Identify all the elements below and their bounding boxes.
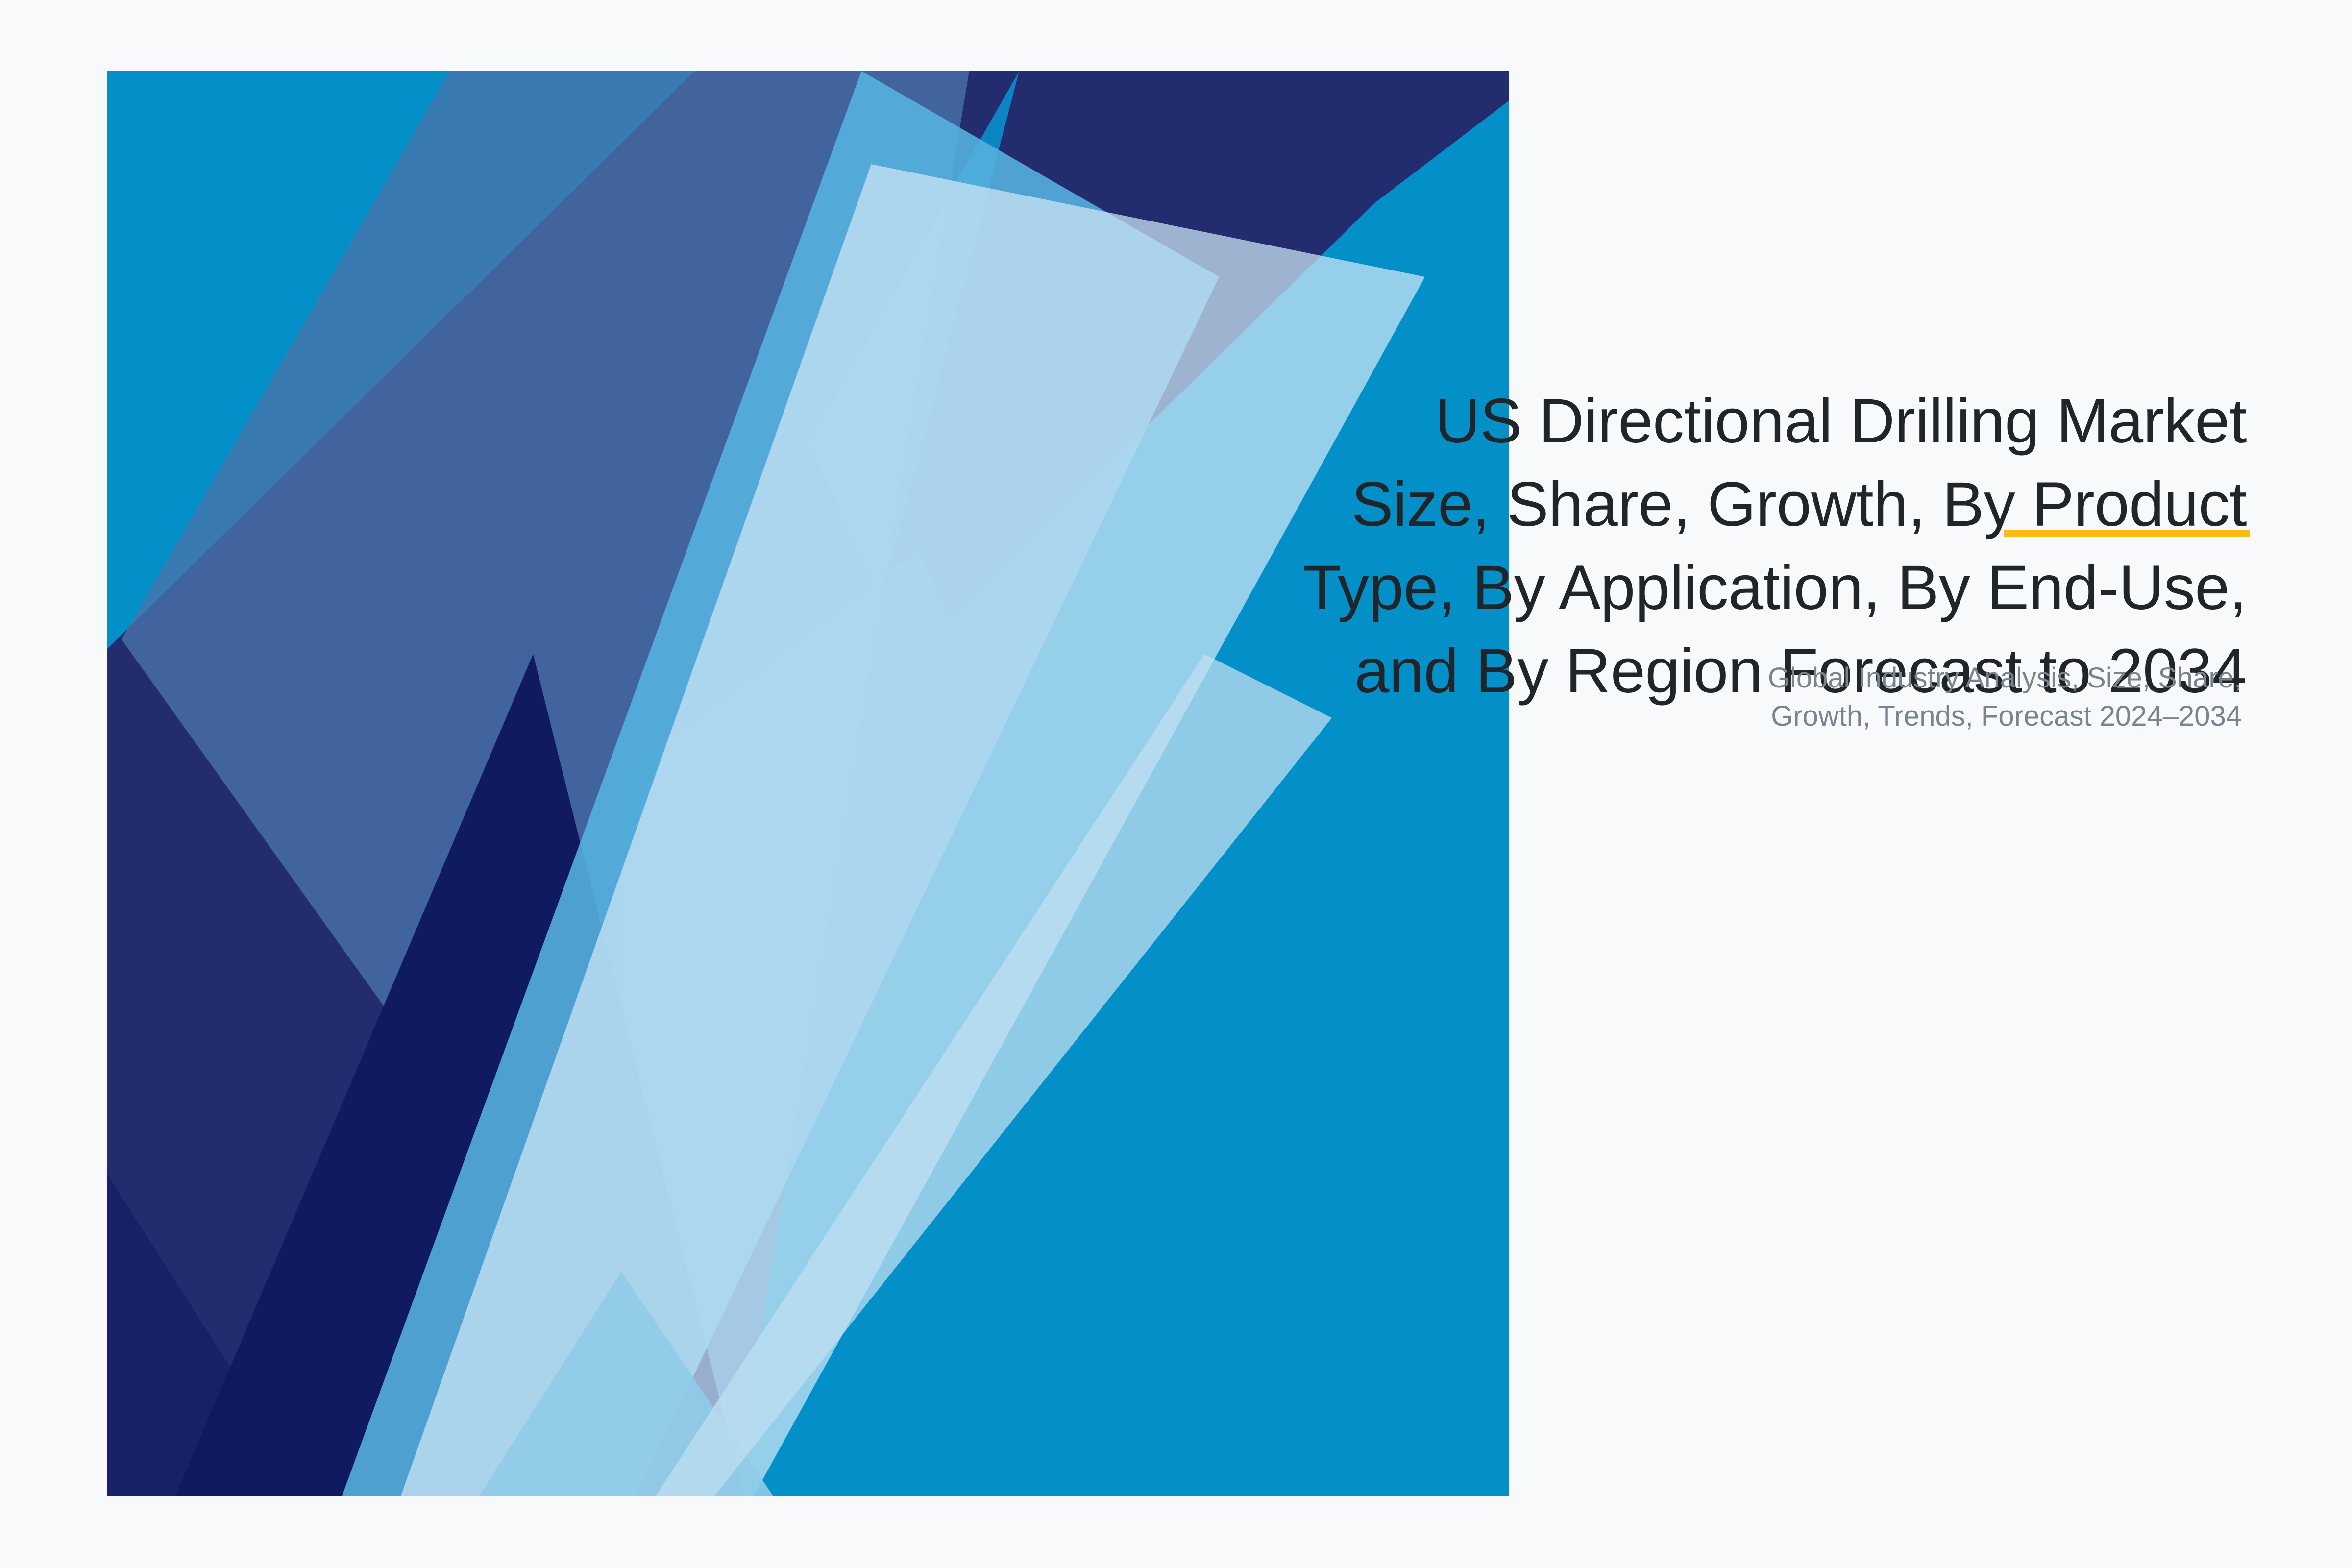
subtitle-line-2: Growth, Trends, Forecast 2024–2034 [1164,697,2242,735]
subtitle-line-1: Global Industry Analysis, Size, Share, [1164,659,2242,697]
page-subtitle: Global Industry Analysis, Size, Share, G… [1164,659,2242,735]
title-line-1: US Directional Drilling Market [1022,380,2247,463]
cover-graphic-svg [107,71,1509,1496]
accent-underline [2004,530,2250,537]
abstract-geometric-cover-graphic [107,71,1509,1496]
report-cover-page: US Directional Drilling Market Size, Sha… [0,0,2352,1568]
title-line-3: Type, By Application, By End-Use, [1022,546,2247,630]
